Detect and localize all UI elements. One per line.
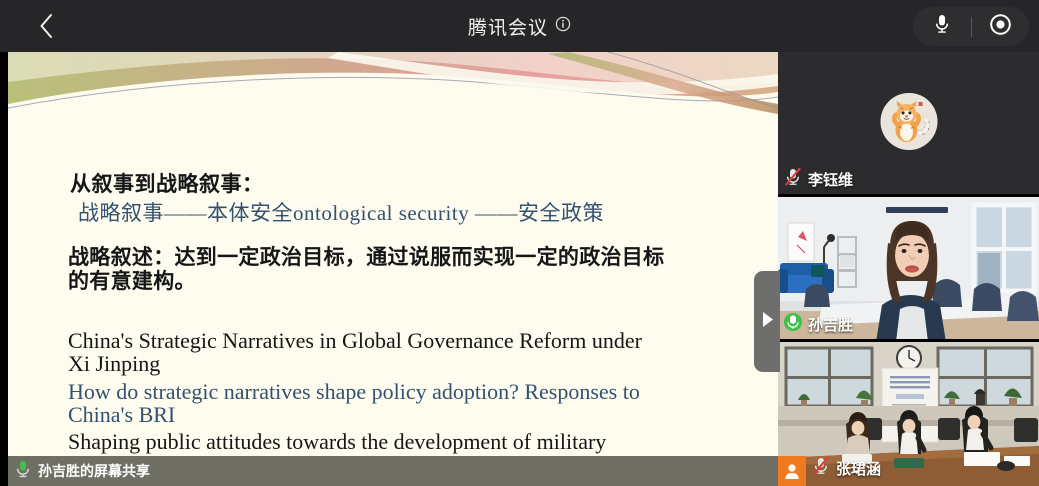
participant-name-row: 张珺涵	[812, 456, 881, 481]
person-badge-icon	[778, 456, 806, 486]
slide-cn-heading: 从叙事到战略叙事：	[70, 168, 264, 198]
panel-collapse-toggle[interactable]	[754, 271, 780, 372]
participant-rail: 李钰维	[778, 52, 1039, 486]
share-status-label: 孙吉胜的屏幕共享	[38, 461, 150, 481]
slide-text-body: 从叙事到战略叙事： 战略叙事——本体安全ontological security…	[8, 112, 778, 456]
participant-name-row: 李钰维	[784, 167, 853, 192]
slide-en-line-2: How do strategic narratives shape policy…	[68, 380, 658, 427]
participant-name: 孙吉胜	[808, 314, 853, 335]
media-controls-pill	[913, 7, 1029, 46]
camera-record-icon	[989, 13, 1012, 41]
slide-en-line-1: China's Strategic Narratives in Global G…	[68, 329, 648, 376]
microphone-active-icon	[784, 312, 802, 337]
meeting-title: 腾讯会议	[468, 13, 548, 40]
slide-en-line-3: Shaping public attitudes towards the dev…	[68, 430, 658, 456]
microphone-muted-icon	[812, 456, 830, 481]
camera-button[interactable]	[972, 7, 1030, 46]
microphone-active-icon	[15, 459, 31, 484]
presentation-slide: 从叙事到战略叙事： 战略叙事——本体安全ontological security…	[8, 52, 778, 456]
chevron-left-icon	[38, 12, 54, 40]
participant-name: 张珺涵	[836, 458, 881, 479]
share-status-inner: 孙吉胜的屏幕共享	[8, 456, 778, 486]
info-circle-icon[interactable]	[555, 16, 571, 37]
participant-name-row: 孙吉胜	[784, 312, 853, 337]
play-triangle-right-icon	[761, 311, 774, 333]
shared-screen-area[interactable]: 从叙事到战略叙事： 战略叙事——本体安全ontological security…	[0, 52, 778, 486]
participant-name: 李钰维	[808, 169, 853, 190]
participant-tile[interactable]: 孙吉胜	[778, 197, 1039, 342]
back-button[interactable]	[24, 8, 68, 44]
microphone-button[interactable]	[913, 7, 971, 46]
microphone-icon	[932, 12, 952, 41]
top-bar: 腾讯会议	[0, 0, 1039, 52]
slide-decorative-header	[8, 52, 778, 120]
participant-tile[interactable]: 李钰维	[778, 52, 1039, 197]
share-status-bar: 孙吉胜的屏幕共享	[0, 456, 778, 486]
slide-cn-subheading: 战略叙事——本体安全ontological security ——安全政策	[78, 197, 604, 227]
tencent-meeting-window: 腾讯会议	[0, 0, 1039, 486]
slide-cn-definition: 战略叙述：达到一定政治目标，通过说服而实现一定的政治目标的有意建构。	[68, 246, 668, 293]
microphone-muted-icon	[784, 167, 802, 192]
title-group: 腾讯会议	[0, 0, 1039, 52]
participant-tile[interactable]: 张珺涵	[778, 342, 1039, 486]
tiger-cartoon-avatar	[880, 93, 937, 150]
